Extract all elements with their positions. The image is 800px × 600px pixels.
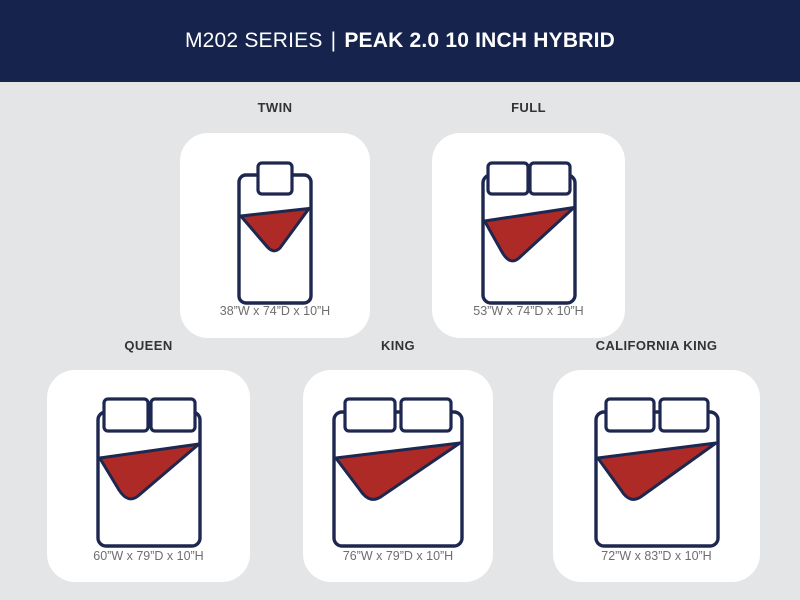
- bed-diagram-queen: [47, 396, 250, 548]
- pillow-icon: [104, 399, 148, 431]
- size-card-grid: TWIN 38”W x 74”D x 10”H FULL 5: [0, 82, 800, 600]
- size-card-dimensions: 53”W x 74”D x 10”H: [432, 304, 625, 318]
- pillow-icon: [660, 399, 708, 431]
- pillow-icon: [151, 399, 195, 431]
- size-card-california-king[interactable]: CALIFORNIA KING 72”W x 83”D x 10”H: [553, 338, 760, 586]
- pillow-icon: [488, 163, 528, 194]
- bed-illustration: [477, 160, 581, 305]
- pillow-icon: [345, 399, 395, 431]
- bed-illustration: [330, 396, 466, 548]
- bed-illustration: [92, 396, 206, 548]
- size-card-label: KING: [303, 338, 493, 353]
- size-card-label: QUEEN: [47, 338, 250, 353]
- size-card-label: FULL: [432, 100, 625, 115]
- bed-diagram-twin: [180, 160, 370, 305]
- size-card-dimensions: 72”W x 83”D x 10”H: [553, 549, 760, 563]
- product-label: PEAK 2.0 10 INCH HYBRID: [344, 29, 615, 52]
- size-card-dimensions: 38”W x 74”D x 10”H: [180, 304, 370, 318]
- page-header: M202 SERIES | PEAK 2.0 10 INCH HYBRID: [0, 0, 800, 82]
- size-card-label: TWIN: [180, 100, 370, 115]
- bed-diagram-california-king: [553, 396, 760, 548]
- size-card-king[interactable]: KING 76”W x 79”D x 10”H: [303, 338, 493, 586]
- bed-diagram-full: [432, 160, 625, 305]
- series-label: M202 SERIES: [185, 29, 323, 52]
- pillow-icon: [258, 163, 292, 194]
- size-card-queen[interactable]: QUEEN 60”W x 79”D x 10”H: [47, 338, 250, 586]
- bed-illustration: [235, 160, 315, 305]
- size-card-dimensions: 76”W x 79”D x 10”H: [303, 549, 493, 563]
- size-card-dimensions: 60”W x 79”D x 10”H: [47, 549, 250, 563]
- page-title: M202 SERIES | PEAK 2.0 10 INCH HYBRID: [185, 29, 615, 53]
- title-separator: |: [329, 29, 339, 52]
- pillow-icon: [606, 399, 654, 431]
- size-card-label: CALIFORNIA KING: [553, 338, 760, 353]
- pillow-icon: [530, 163, 570, 194]
- bed-diagram-king: [303, 396, 493, 548]
- size-card-twin[interactable]: TWIN 38”W x 74”D x 10”H: [180, 100, 370, 340]
- bed-illustration: [592, 396, 722, 548]
- pillow-icon: [401, 399, 451, 431]
- size-card-full[interactable]: FULL 53”W x 74”D x 10”H: [432, 100, 625, 340]
